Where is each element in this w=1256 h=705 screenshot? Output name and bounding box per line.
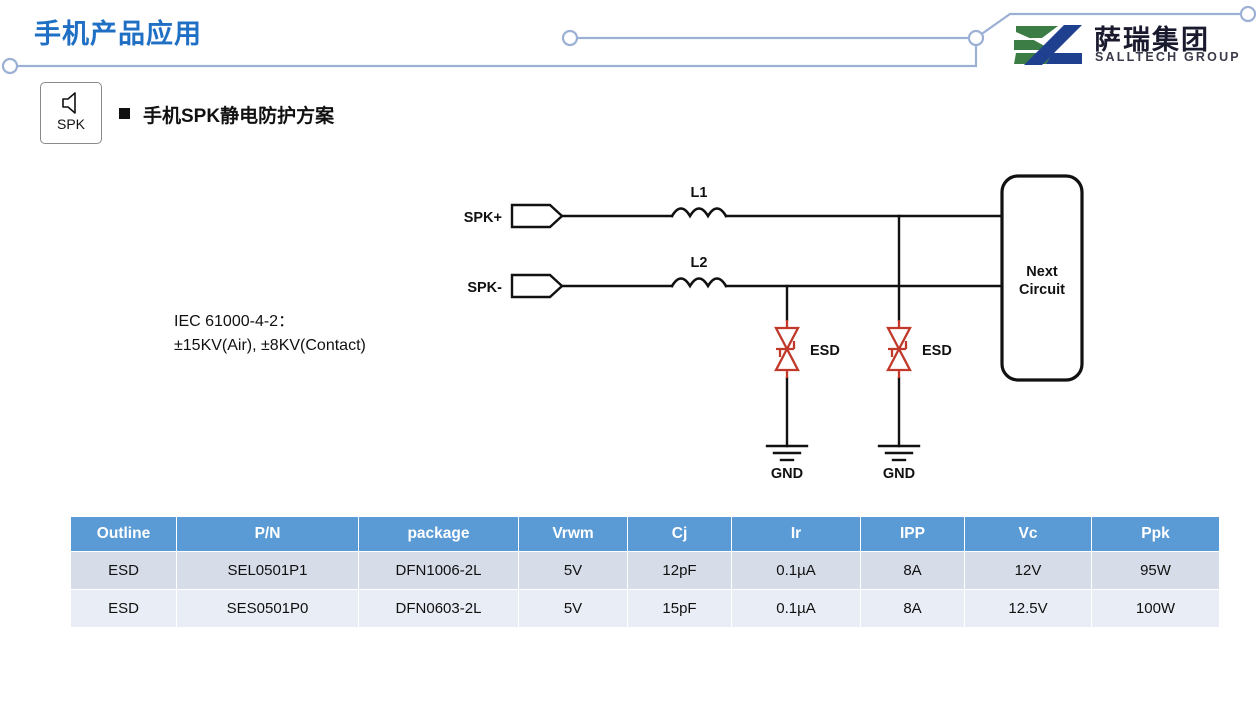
iec-note-line2: ±15KV(Air), ±8KV(Contact) <box>174 334 366 358</box>
gnd-label-2: GND <box>883 466 915 482</box>
cell-pn: SEL0501P1 <box>177 552 358 589</box>
esd-diode-2 <box>888 320 910 378</box>
col-vc[interactable]: Vc <box>965 517 1091 551</box>
next-circuit-line1: Next <box>1026 264 1058 280</box>
cell-ir: 0.1µA <box>732 552 860 589</box>
col-ir[interactable]: Ir <box>732 517 860 551</box>
deco-node-right <box>1241 7 1255 21</box>
col-vrwm[interactable]: Vrwm <box>519 517 627 551</box>
table-header-row: Outline P/N package Vrwm Cj Ir IPP Vc Pp… <box>71 517 1219 551</box>
salltech-logo-mark <box>1012 22 1084 68</box>
deco-node-junction <box>969 31 983 45</box>
spk-minus-label: SPK- <box>467 280 502 296</box>
spk-badge: SPK <box>40 82 102 144</box>
deco-node-left <box>3 59 17 73</box>
inductor-l1-label: L1 <box>691 185 708 201</box>
inductor-l2 <box>672 279 726 287</box>
inductor-l1 <box>672 209 726 217</box>
cell-cj: 15pF <box>628 590 731 627</box>
section-title: 手机SPK静电防护方案 <box>143 101 334 128</box>
cell-package: DFN1006-2L <box>359 552 518 589</box>
deco-node-mid <box>563 31 577 45</box>
table-row[interactable]: ESD SES0501P0 DFN0603-2L 5V 15pF 0.1µA 8… <box>71 590 1219 627</box>
esd-diode-1 <box>776 320 798 378</box>
cell-ppk: 95W <box>1092 552 1219 589</box>
cell-outline: ESD <box>71 590 176 627</box>
cell-pn: SES0501P0 <box>177 590 358 627</box>
cell-vrwm: 5V <box>519 552 627 589</box>
iec-standard-note: IEC 61000-4-2： ±15KV(Air), ±8KV(Contact) <box>174 310 366 358</box>
cell-ipp: 8A <box>861 552 964 589</box>
col-package[interactable]: package <box>359 517 518 551</box>
spk-badge-label: SPK <box>41 116 101 132</box>
col-pn[interactable]: P/N <box>177 517 358 551</box>
esd-label-2: ESD <box>922 343 952 359</box>
cell-outline: ESD <box>71 552 176 589</box>
iec-note-line1: IEC 61000-4-2： <box>174 310 366 334</box>
cell-ipp: 8A <box>861 590 964 627</box>
col-ppk[interactable]: Ppk <box>1092 517 1219 551</box>
cell-ppk: 100W <box>1092 590 1219 627</box>
page-title: 手机产品应用 <box>34 12 202 51</box>
section-bullet-icon <box>119 108 130 119</box>
cell-vc: 12V <box>965 552 1091 589</box>
inductor-l2-label: L2 <box>691 255 708 271</box>
next-circuit-line2: Circuit <box>1019 282 1065 298</box>
spk-plus-connector <box>512 205 562 227</box>
speaker-icon <box>41 90 101 116</box>
gnd-label-1: GND <box>771 466 803 482</box>
brand-logo: 萨瑞集团 SALLTECH GROUP <box>1012 18 1238 74</box>
table-row[interactable]: ESD SEL0501P1 DFN1006-2L 5V 12pF 0.1µA 8… <box>71 552 1219 589</box>
brand-name-en: SALLTECH GROUP <box>1095 50 1241 64</box>
cell-vrwm: 5V <box>519 590 627 627</box>
esd-label-1: ESD <box>810 343 840 359</box>
cell-cj: 12pF <box>628 552 731 589</box>
col-cj[interactable]: Cj <box>628 517 731 551</box>
cell-vc: 12.5V <box>965 590 1091 627</box>
cell-ir: 0.1µA <box>732 590 860 627</box>
spk-plus-label: SPK+ <box>464 210 502 226</box>
spk-minus-connector <box>512 275 562 297</box>
col-ipp[interactable]: IPP <box>861 517 964 551</box>
cell-package: DFN0603-2L <box>359 590 518 627</box>
parts-table: Outline P/N package Vrwm Cj Ir IPP Vc Pp… <box>70 516 1220 628</box>
col-outline[interactable]: Outline <box>71 517 176 551</box>
